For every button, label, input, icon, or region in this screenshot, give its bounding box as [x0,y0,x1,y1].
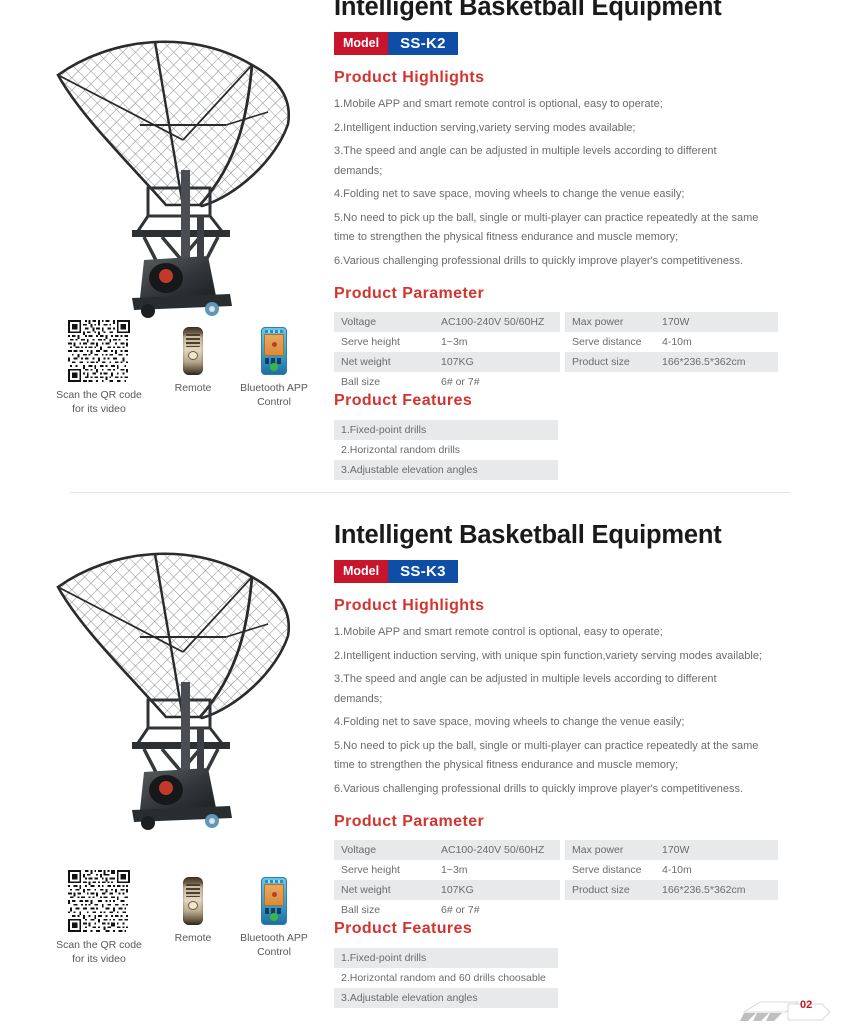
remote-block-1: Remote [162,320,224,395]
app-caption-line1: Bluetooth APP [240,932,308,944]
app-caption: Bluetooth APP Control [228,381,320,409]
highlight-item: 5.No need to pick up the ball, single or… [334,209,764,248]
highlights-heading: ProductHighlights [334,69,834,87]
remote-caption: Remote [162,381,224,395]
qr-code-icon[interactable] [68,320,130,382]
highlight-item: 2.Intelligent induction serving, with un… [334,647,764,667]
parameter-column-right: Max power 170W Serve distance 4-10m Prod… [565,312,778,372]
remote-caption: Remote [162,931,224,945]
qr-caption: Scan the QR code for its video [40,938,158,966]
page-number: 02 [800,999,812,1011]
app-caption-line2: Control [257,946,291,958]
parameter-column-left: Voltage AC100-240V 50/60HZ Serve height … [334,840,560,920]
qr-block-1: Scan the QR code for its video [40,320,158,416]
app-block-2: Bluetooth APP Control [228,870,320,959]
app-caption-line2: Control [257,396,291,408]
table-row: Max power 170W [565,312,778,332]
model-badge: Model SS-K3 [334,560,458,583]
remote-control-icon [183,327,203,375]
table-row: Product size 166*236.5*362cm [565,352,778,372]
table-row: Ball size 6# or 7# [334,900,560,920]
highlight-item: 2.Intelligent induction serving,variety … [334,119,764,139]
remote-control-icon [183,877,203,925]
table-row: Max power 170W [565,840,778,860]
feature-row: 2.Horizontal random drills [334,440,558,460]
table-row: Product size 166*236.5*362cm [565,880,778,900]
catalog-page: Scan the QR code for its video Remote Bl… [0,0,865,1024]
highlights-heading: ProductHighlights [334,597,834,615]
table-row: Net weight 107KG [334,880,560,900]
parameter-heading: ProductParameter [334,813,834,831]
parameter-table: Voltage AC100-240V 50/60HZ Serve height … [334,312,778,374]
product-title: Intelligent Basketball Equipment [334,0,834,22]
model-label: Model [334,560,388,583]
highlight-item: 1.Mobile APP and smart remote control is… [334,623,764,643]
bluetooth-app-icon [261,877,287,925]
bluetooth-app-icon [261,327,287,375]
highlights-list: 1.Mobile APP and smart remote control is… [334,623,834,799]
app-caption: Bluetooth APP Control [228,931,320,959]
qr-caption-line2: for its video [72,953,126,965]
feature-row: 2.Horizontal random and 60 drills choosa… [334,968,558,988]
highlight-item: 4.Folding net to save space, moving whee… [334,713,764,733]
app-block-1: Bluetooth APP Control [228,320,320,409]
model-value: SS-K3 [388,560,458,583]
product-1-media-row: Scan the QR code for its video Remote Bl… [40,320,320,416]
parameter-column-right: Max power 170W Serve distance 4-10m Prod… [565,840,778,900]
qr-caption-line2: for its video [72,403,126,415]
section-divider [70,492,790,493]
table-row: Serve height 1~3m [334,332,560,352]
product-2-info-column: Intelligent Basketball Equipment Model S… [334,520,834,1008]
page-footer: 02 [740,996,860,1022]
model-badge: Model SS-K2 [334,32,458,55]
table-row: Serve distance 4-10m [565,860,778,880]
highlight-item: 6.Various challenging professional drill… [334,780,764,800]
highlight-item: 4.Folding net to save space, moving whee… [334,185,764,205]
product-2-media-row: Scan the QR code for its video Remote Bl… [40,870,320,966]
highlight-item: 3.The speed and angle can be adjusted in… [334,670,764,709]
table-row: Serve height 1~3m [334,860,560,880]
qr-code-icon[interactable] [68,870,130,932]
qr-caption: Scan the QR code for its video [40,388,158,416]
highlight-item: 5.No need to pick up the ball, single or… [334,737,764,776]
table-row: Voltage AC100-240V 50/60HZ [334,312,560,332]
qr-caption-line1: Scan the QR code [56,389,142,401]
qr-caption-line1: Scan the QR code [56,939,142,951]
highlight-item: 6.Various challenging professional drill… [334,252,764,272]
parameter-heading: ProductParameter [334,285,834,303]
app-caption-line1: Bluetooth APP [240,382,308,394]
highlights-list: 1.Mobile APP and smart remote control is… [334,95,834,271]
table-row: Voltage AC100-240V 50/60HZ [334,840,560,860]
feature-row: 3.Adjustable elevation angles [334,460,558,480]
model-value: SS-K2 [388,32,458,55]
model-label: Model [334,32,388,55]
table-row: Ball size 6# or 7# [334,372,560,392]
feature-row: 1.Fixed-point drills [334,948,558,968]
product-title: Intelligent Basketball Equipment [334,520,834,550]
feature-row: 1.Fixed-point drills [334,420,558,440]
basketball-machine-illustration-1 [40,20,330,320]
parameter-table: Voltage AC100-240V 50/60HZ Serve height … [334,840,778,902]
features-heading: ProductFeatures [334,920,834,938]
highlight-item: 3.The speed and angle can be adjusted in… [334,142,764,181]
features-table: 1.Fixed-point drills 2.Horizontal random… [334,420,558,480]
remote-block-2: Remote [162,870,224,945]
product-1-info-column: Intelligent Basketball Equipment Model S… [334,0,834,480]
features-heading: ProductFeatures [334,392,834,410]
table-row: Serve distance 4-10m [565,332,778,352]
table-row: Net weight 107KG [334,352,560,372]
features-table: 1.Fixed-point drills 2.Horizontal random… [334,948,558,1008]
highlight-item: 1.Mobile APP and smart remote control is… [334,95,764,115]
basketball-machine-illustration-2 [40,532,330,832]
qr-block-2: Scan the QR code for its video [40,870,158,966]
parameter-column-left: Voltage AC100-240V 50/60HZ Serve height … [334,312,560,392]
feature-row: 3.Adjustable elevation angles [334,988,558,1008]
